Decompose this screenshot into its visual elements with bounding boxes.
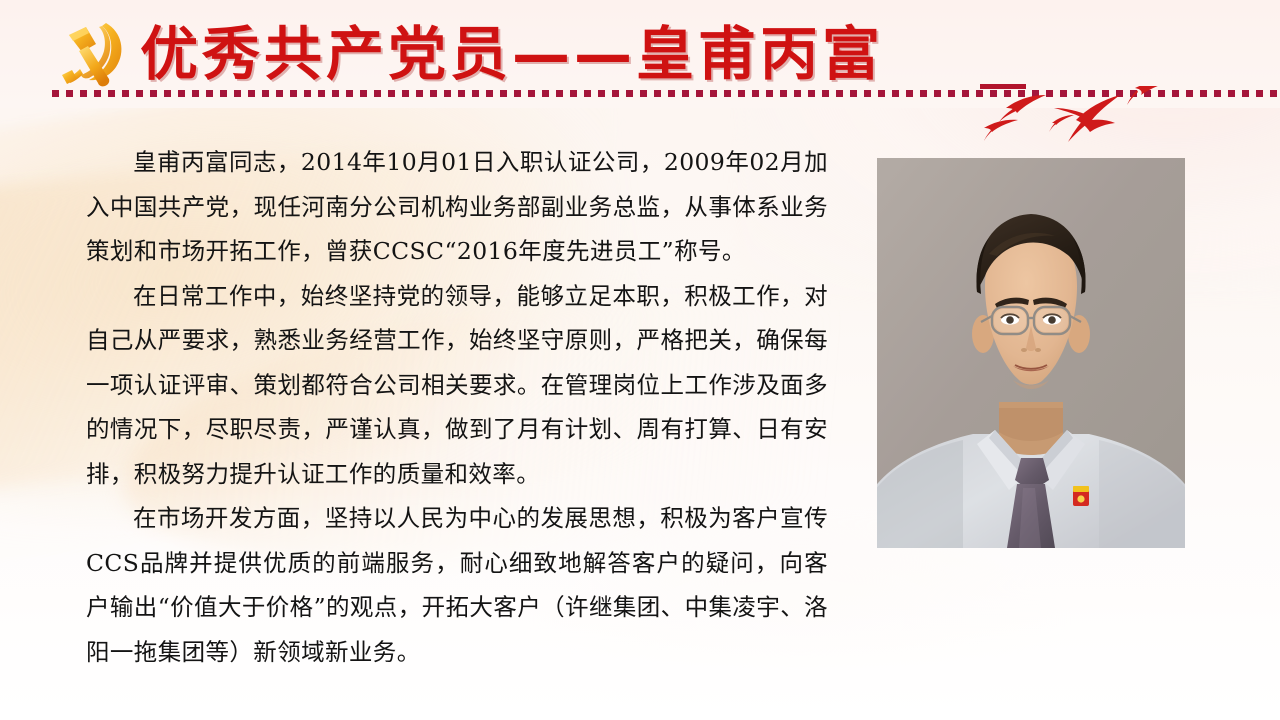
paragraph-3: 在市场开发方面，坚持以人民为中心的发展思想，积极为客户宣传CCS品牌并提供优质的… (86, 496, 828, 674)
page-title: 优秀共产党员——皇甫丙富 (140, 12, 884, 86)
flying-birds-decoration-icon (980, 86, 1280, 156)
paragraph-2: 在日常工作中，始终坚持党的领导，能够立足本职，积极工作，对自己从严要求，熟悉业务… (86, 274, 828, 497)
article-body: 皇甫丙富同志，2014年10月01日入职认证公司，2009年02月加入中国共产党… (86, 140, 828, 674)
paragraph-1: 皇甫丙富同志，2014年10月01日入职认证公司，2009年02月加入中国共产党… (86, 140, 828, 274)
hammer-and-sickle-party-emblem-icon (52, 18, 134, 92)
header-band: 优秀共产党员——皇甫丙富 (0, 0, 1280, 108)
portrait-photo (877, 158, 1185, 548)
slide-root: 优秀共产党员——皇甫丙富 (0, 0, 1280, 720)
